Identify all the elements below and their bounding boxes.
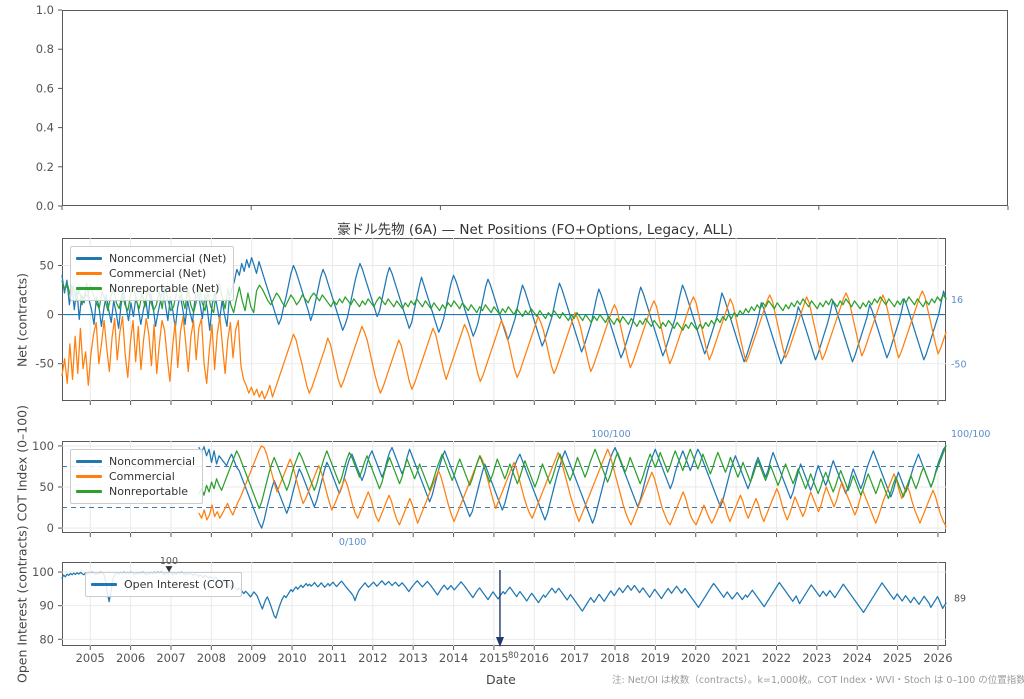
figure-canvas: 豪ドル先物 (6A) — Net Positions (FO+Options, …: [0, 0, 1024, 699]
panel1-y-tick: 0.2: [36, 160, 54, 174]
x-tick-label: 2016: [520, 651, 549, 665]
panel4-y-tick: 80: [39, 632, 54, 646]
x-tick-label: 2010: [277, 651, 306, 665]
panel1-plot: [62, 10, 1008, 206]
panel2-y-tick: -50: [35, 357, 54, 371]
panel2-annotation: -50: [951, 360, 967, 371]
panel3-annotation: 100/100: [591, 429, 630, 440]
legend-label: Commercial: [109, 469, 175, 484]
panel4-annotation: 89: [954, 593, 966, 604]
legend-label: Commercial (Net): [109, 266, 206, 281]
x-tick-label: 2015: [479, 651, 508, 665]
x-tick-label: 2011: [318, 651, 347, 665]
panel4-y-tick: 90: [39, 599, 54, 613]
x-tick-label: 2007: [156, 651, 185, 665]
legend-cot-item[interactable]: Nonreportable: [76, 484, 195, 499]
x-tick-label: 2017: [560, 651, 589, 665]
panel4-annotation: 80: [508, 651, 519, 661]
legend-label: Nonreportable (Net): [109, 281, 219, 296]
x-tick-label: 2005: [76, 651, 105, 665]
panel2-y-tick: 0: [47, 308, 54, 322]
x-axis-label: Date: [486, 672, 516, 687]
legend-label: Noncommercial: [109, 454, 195, 469]
x-tick-label: 2024: [843, 651, 872, 665]
legend-open-interest[interactable]: Open Interest (COT): [85, 572, 242, 597]
legend-line-icon: [76, 460, 102, 462]
legend-label: Noncommercial (Net): [109, 251, 226, 266]
legend-line-icon: [76, 257, 102, 259]
x-tick-label: 2020: [681, 651, 710, 665]
panel4-y-tick: 100: [32, 565, 54, 579]
panel3-y-tick: 50: [39, 480, 54, 494]
panel1-y-tick: 0.0: [36, 199, 54, 213]
panel2-annotation: 16: [951, 295, 963, 306]
panel2-y-tick: 50: [39, 258, 54, 272]
legend-cot-item[interactable]: Commercial: [76, 469, 195, 484]
panel1-y-tick: 1.0: [36, 3, 54, 17]
panel1-y-tick: 0.8: [36, 42, 54, 56]
legend-net-item[interactable]: Nonreportable (Net): [76, 281, 226, 296]
x-tick-label: 2012: [358, 651, 387, 665]
panel3-annotation: 0/100: [339, 537, 366, 548]
panel-empty-axes: [62, 10, 1008, 206]
legend-line-icon: [91, 583, 117, 585]
x-tick-label: 2019: [641, 651, 670, 665]
panel3-y-tick: 100: [32, 439, 54, 453]
x-tick-label: 2008: [197, 651, 226, 665]
legend-cot-index[interactable]: NoncommercialCommercialNonreportable: [70, 449, 203, 504]
panel1-y-tick: 0.4: [36, 121, 54, 135]
legend-label: Nonreportable: [109, 484, 188, 499]
x-tick-label: 2022: [762, 651, 791, 665]
x-tick-label: 2023: [802, 651, 831, 665]
legend-net-positions[interactable]: Noncommercial (Net)Commercial (Net)Nonre…: [70, 246, 234, 301]
x-tick-label: 2014: [439, 651, 468, 665]
x-tick-label: 2013: [399, 651, 428, 665]
legend-net-item[interactable]: Noncommercial (Net): [76, 251, 226, 266]
legend-label: Open Interest (COT): [124, 577, 234, 592]
panel3-y-tick: 0: [47, 521, 54, 535]
panel1-y-tick: 0.6: [36, 81, 54, 95]
chart-title: 豪ドル先物 (6A) — Net Positions (FO+Options, …: [62, 218, 1008, 238]
panel34-y-axis-label: Open Interest (contracts) COT Index (0–1…: [15, 404, 30, 682]
x-tick-label: 2021: [721, 651, 750, 665]
legend-oi-item[interactable]: Open Interest (COT): [91, 577, 234, 592]
legend-line-icon: [76, 490, 102, 492]
panel3-annotation: 100/100: [951, 429, 990, 440]
legend-cot-item[interactable]: Noncommercial: [76, 454, 195, 469]
legend-line-icon: [76, 287, 102, 289]
x-tick-label: 2026: [923, 651, 952, 665]
legend-line-icon: [76, 272, 102, 274]
legend-net-item[interactable]: Commercial (Net): [76, 266, 226, 281]
footnote: 注: Net/OI は枚数（contracts）。k=1,000枚。COT In…: [612, 672, 1024, 686]
x-tick-label: 2025: [883, 651, 912, 665]
panel2-y-axis-label: Net (contracts): [15, 272, 30, 366]
x-tick-label: 2009: [237, 651, 266, 665]
legend-line-icon: [76, 475, 102, 477]
x-tick-label: 2018: [600, 651, 629, 665]
x-tick-label: 2006: [116, 651, 145, 665]
